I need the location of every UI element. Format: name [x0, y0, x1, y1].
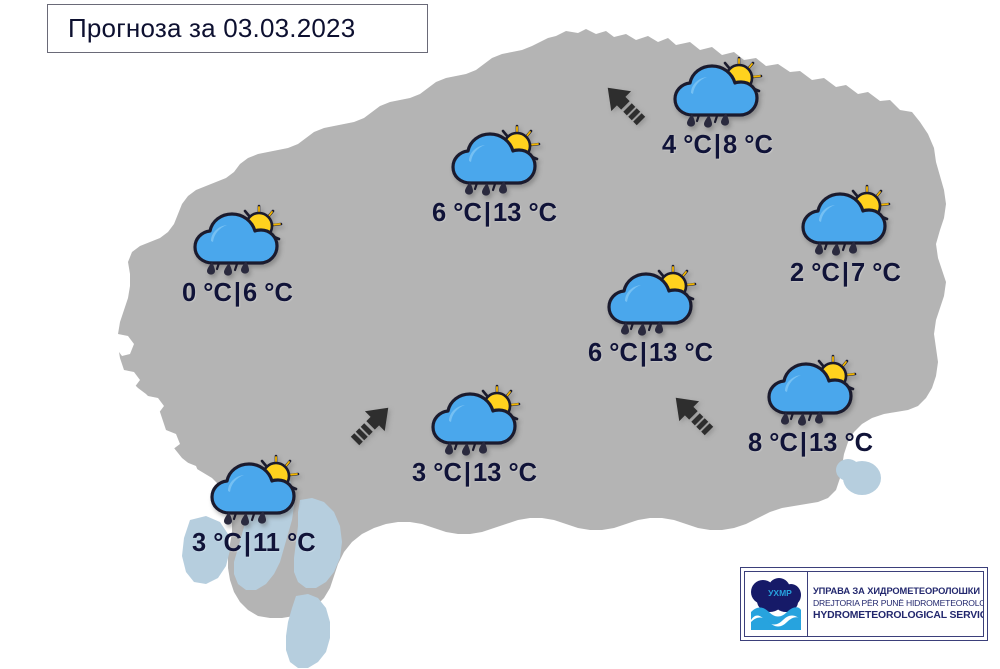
- temp-separator: |: [232, 279, 243, 308]
- logo-line-english: HYDROMETEOROLOGICAL SERVICE: [813, 609, 983, 622]
- temp-max: 8 °C: [723, 131, 773, 159]
- logo-line-albanian: DREJTORIA PËR PUNË HIDROMETEOROLOGJIKE: [813, 598, 983, 609]
- sun-behind-rain-cloud-icon: [206, 453, 302, 527]
- station-temperature: 3 °C|11 °C: [192, 529, 316, 558]
- station-temperature: 2 °C|7 °C: [790, 259, 901, 288]
- weather-forecast-map: Прогноза за 03.03.2023: [0, 0, 1000, 669]
- uhmr-logo-mark: УХМР: [745, 572, 808, 636]
- temp-min: 6 °C: [432, 199, 482, 227]
- temp-separator: |: [798, 429, 809, 458]
- temp-max: 7 °C: [851, 259, 901, 287]
- temp-max: 13 °C: [493, 199, 557, 227]
- temp-min: 3 °C: [192, 529, 242, 557]
- station-temperature: 3 °C|13 °C: [412, 459, 537, 488]
- sun-behind-rain-cloud-icon: [763, 353, 859, 427]
- sun-behind-rain-cloud-icon: [669, 55, 765, 129]
- logo-acronym: УХМР: [768, 588, 792, 598]
- wind-arrow-southeast: [666, 388, 718, 440]
- temp-separator: |: [462, 459, 473, 488]
- temp-max: 13 °C: [809, 429, 873, 457]
- temp-max: 11 °C: [253, 529, 316, 557]
- station-temperature: 6 °C|13 °C: [432, 199, 557, 228]
- lake-dojran-lobe: [836, 459, 860, 481]
- station-central[interactable]: 6 °C|13 °C: [588, 263, 713, 368]
- temp-separator: |: [840, 259, 851, 288]
- wind-arrow-north: [598, 78, 650, 130]
- temp-min: 2 °C: [790, 259, 840, 287]
- temp-separator: |: [712, 131, 723, 160]
- station-temperature: 6 °C|13 °C: [588, 339, 713, 368]
- page-title: Прогноза за 03.03.2023: [48, 13, 355, 44]
- logo-line-macedonian: УПРАВА ЗА ХИДРОМЕТЕОРОЛОШКИ РАБОТИ: [813, 586, 983, 598]
- station-temperature: 4 °C|8 °C: [662, 131, 773, 160]
- station-northwest[interactable]: 0 °C|6 °C: [182, 203, 293, 308]
- sun-behind-rain-cloud-icon: [189, 203, 285, 277]
- temp-min: 3 °C: [412, 459, 462, 487]
- temp-max: 13 °C: [649, 339, 713, 367]
- temp-separator: |: [638, 339, 649, 368]
- sun-behind-rain-cloud-icon: [797, 183, 893, 257]
- station-southeast[interactable]: 8 °C|13 °C: [748, 353, 873, 458]
- temp-min: 0 °C: [182, 279, 232, 307]
- temp-min: 8 °C: [748, 429, 798, 457]
- temp-separator: |: [482, 199, 493, 228]
- temp-max: 6 °C: [243, 279, 293, 307]
- temp-separator: |: [242, 529, 253, 558]
- station-temperature: 0 °C|6 °C: [182, 279, 293, 308]
- station-south-central[interactable]: 3 °C|13 °C: [412, 383, 537, 488]
- station-temperature: 8 °C|13 °C: [748, 429, 873, 458]
- sun-behind-rain-cloud-icon: [447, 123, 543, 197]
- temp-min: 4 °C: [662, 131, 712, 159]
- station-east[interactable]: 2 °C|7 °C: [790, 183, 901, 288]
- sun-behind-rain-cloud-icon: [603, 263, 699, 337]
- wind-arrow-southwest: [346, 398, 398, 450]
- station-north-central[interactable]: 6 °C|13 °C: [432, 123, 557, 228]
- station-southwest[interactable]: 3 °C|11 °C: [192, 453, 316, 558]
- sun-behind-rain-cloud-icon: [427, 383, 523, 457]
- forecast-title-box: Прогноза за 03.03.2023: [47, 4, 428, 53]
- temp-min: 6 °C: [588, 339, 638, 367]
- hydrometeorological-service-logo: УХМР УПРАВА ЗА ХИДРОМЕТЕОРОЛОШКИ РАБОТИ …: [740, 567, 988, 641]
- temp-max: 13 °C: [473, 459, 537, 487]
- station-northeast[interactable]: 4 °C|8 °C: [662, 55, 773, 160]
